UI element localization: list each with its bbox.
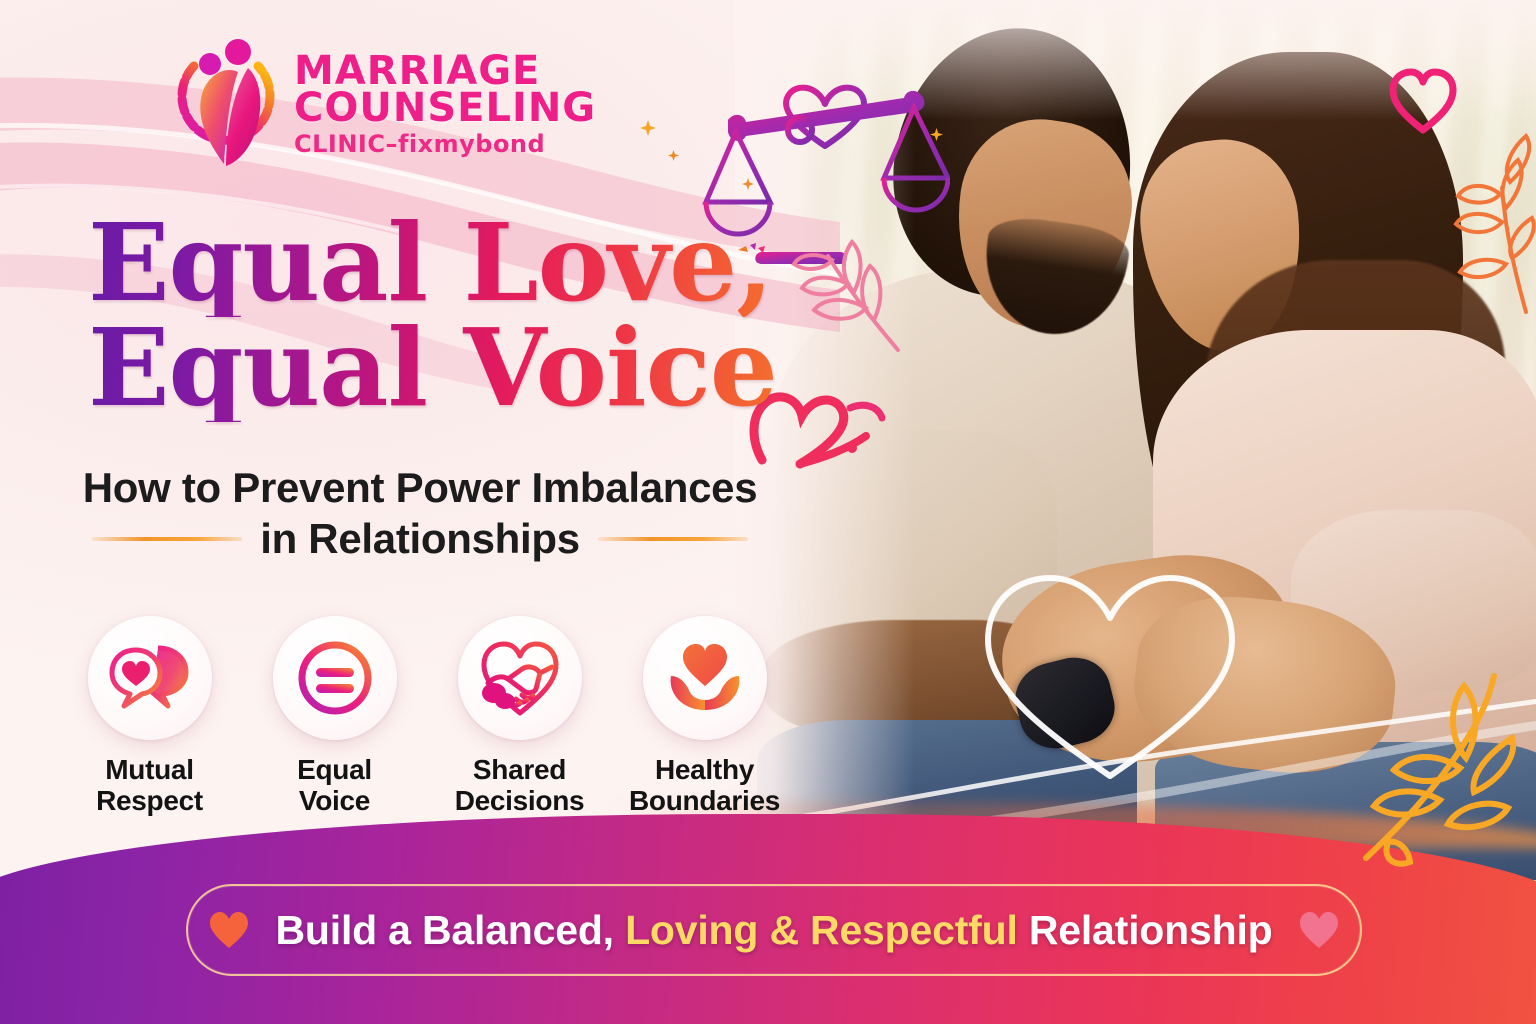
feature-icon-circle [88,616,212,740]
white-heart-line-art [960,548,1260,798]
feature-icon-circle [273,616,397,740]
subtitle-line-2: in Relationships [260,513,580,564]
sparkle-icon [742,178,754,190]
feature-label-line-2: Respect [96,785,203,816]
poster-canvas: MARRIAGE COUNSELING CLINIC–fixmybond Equ… [0,0,1536,1024]
subtitle: How to Prevent Power Imbalances in Relat… [60,462,780,564]
feature-label-line-1: Mutual [105,754,193,785]
gold-leaf-sprig [1352,672,1527,867]
feature-item-mutual-respect[interactable]: Mutual Respect [62,616,237,817]
headline-line-2: Equal Voice: [88,317,778,422]
cta-text-highlight: Loving & Respectful [625,907,1018,953]
cta-text-before: Build a Balanced, [276,907,614,953]
feature-label: Shared Decisions [455,754,585,817]
feature-label-line-2: Boundaries [629,785,780,816]
logo-line-2: COUNSELING [294,90,596,127]
subtitle-line-1: How to Prevent Power Imbalances [60,462,780,513]
orange-heart-icon [208,909,250,951]
feature-icon-circle [643,616,767,740]
cta-text-after: Relationship [1029,907,1273,953]
feature-label: Equal Voice [297,754,372,817]
subtitle-line-2-row: in Relationships [60,513,780,564]
handshake-heart-icon [478,637,562,719]
feature-label-line-2: Decisions [455,785,585,816]
sparkle-icon [668,150,679,161]
feature-icon-circle [458,616,582,740]
feature-item-equal-voice[interactable]: Equal Voice [247,616,422,817]
feature-label-line-1: Shared [473,754,566,785]
hands-holding-heart-icon [663,638,747,718]
feature-list: Mutual Respect Equal Voice [62,616,792,817]
sparkle-icon [930,128,943,141]
headline: Equal Love, Equal Voice: [88,212,778,422]
cta-text: Build a Balanced, Loving & Respectful Re… [276,907,1273,954]
feature-label-line-2: Voice [299,785,370,816]
logo-line-3: CLINIC–fixmybond [294,133,596,155]
sparkle-icon [640,120,656,136]
feature-item-shared-decisions[interactable]: Shared Decisions [432,616,607,817]
feature-label-line-1: Equal [297,754,372,785]
orange-leaf-sprig [1440,130,1536,320]
pink-heart-icon [1298,909,1340,951]
feature-label-line-1: Healthy [655,754,754,785]
two-figures-in-ring-logo [172,38,280,170]
chat-bubbles-heart-icon [108,636,192,720]
divider-right [598,537,748,541]
feature-label: Healthy Boundaries [629,754,780,817]
equals-sign-circle-icon [295,638,375,718]
divider-left [92,537,242,541]
cta-banner[interactable]: Build a Balanced, Loving & Respectful Re… [186,884,1362,976]
headline-line-1: Equal Love, [88,212,778,317]
feature-item-healthy-boundaries[interactable]: Healthy Boundaries [617,616,792,817]
brand-logo[interactable]: MARRIAGE COUNSELING CLINIC–fixmybond [172,34,512,174]
feature-label: Mutual Respect [96,754,203,817]
pink-heart-outline [1385,66,1461,136]
